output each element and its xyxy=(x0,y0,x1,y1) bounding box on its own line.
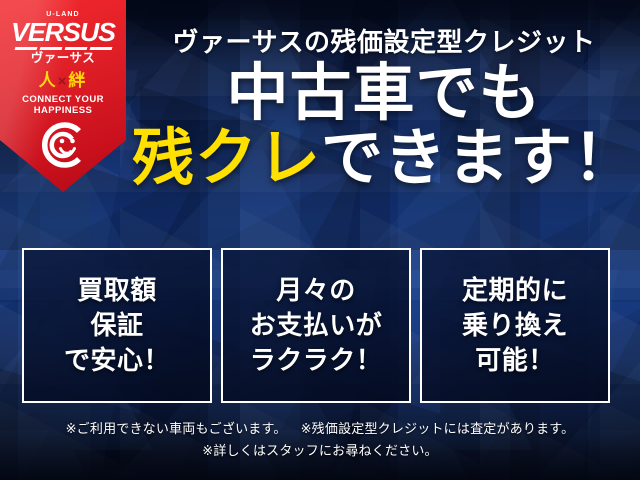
kizuna-right-kanji: 絆 xyxy=(68,71,87,90)
footnote-text: ※ご利用できない車両もございます。 xyxy=(66,421,287,436)
feature-line: 定期的に xyxy=(462,274,568,307)
footnote-text: ※詳しくはスタッフにお尋ねください。 xyxy=(202,443,438,458)
versus-wordmark: VERSUS xyxy=(0,19,128,45)
versus-logo-banner: U-LAND VERSUS ヴァーサス 人×絆 CONNECT YOUR HAP… xyxy=(0,0,126,192)
feature-line: 乗り換え xyxy=(462,309,568,342)
kizuna-tagline: 人×絆 xyxy=(0,72,126,89)
feature-box-regular-upgrade: 定期的に 乗り換え 可能！ xyxy=(420,248,610,403)
versus-kana-label: ヴァーサス xyxy=(0,52,126,65)
headline-line-1: 中古車でも xyxy=(130,61,638,126)
headline-block: ヴァーサスの残価設定型クレジット 中古車でも 残クレできます！ xyxy=(130,0,638,191)
connect-line-2: HAPPINESS xyxy=(0,105,126,116)
footnote-row-1: ※ご利用できない車両もございます。※残価設定型クレジットには査定があります。 xyxy=(0,418,640,440)
advertisement-banner: U-LAND VERSUS ヴァーサス 人×絆 CONNECT YOUR HAP… xyxy=(0,0,640,480)
feature-line: 保証 xyxy=(90,309,143,342)
feature-line: ラクラク！ xyxy=(250,344,383,377)
feature-line: 月々の xyxy=(276,274,356,307)
feature-box-monthly-payment: 月々の お支払いが ラクラク！ xyxy=(221,248,411,403)
feature-line: お支払いが xyxy=(250,309,383,342)
smiley-c-emblem-icon xyxy=(38,120,88,170)
feature-line: で安心！ xyxy=(64,344,170,377)
footnotes: ※ご利用できない車両もございます。※残価設定型クレジットには査定があります。 ※… xyxy=(0,418,640,462)
footnote-text: ※残価設定型クレジットには査定があります。 xyxy=(301,421,575,436)
connect-tagline: CONNECT YOUR HAPPINESS xyxy=(0,94,126,116)
feature-line: 買取額 xyxy=(77,274,157,307)
footnote-row-2: ※詳しくはスタッフにお尋ねください。 xyxy=(0,440,640,462)
feature-box-buyback: 買取額 保証 で安心！ xyxy=(22,248,212,403)
kizuna-left-kanji: 人 xyxy=(39,71,58,90)
headline-kicker: ヴァーサスの残価設定型クレジット xyxy=(130,29,638,55)
headline-highlight: 残クレ xyxy=(132,124,321,193)
connect-line-1: CONNECT YOUR xyxy=(0,94,126,105)
feature-box-row: 買取額 保証 で安心！ 月々の お支払いが ラクラク！ 定期的に 乗り換え 可能… xyxy=(22,248,610,403)
wordmark-underline-rule xyxy=(0,47,126,50)
headline-line-2: 残クレできます！ xyxy=(130,126,638,191)
feature-line: 可能！ xyxy=(475,344,555,377)
headline-line-2-rest: できます！ xyxy=(321,124,636,193)
multiply-icon: × xyxy=(58,73,69,90)
